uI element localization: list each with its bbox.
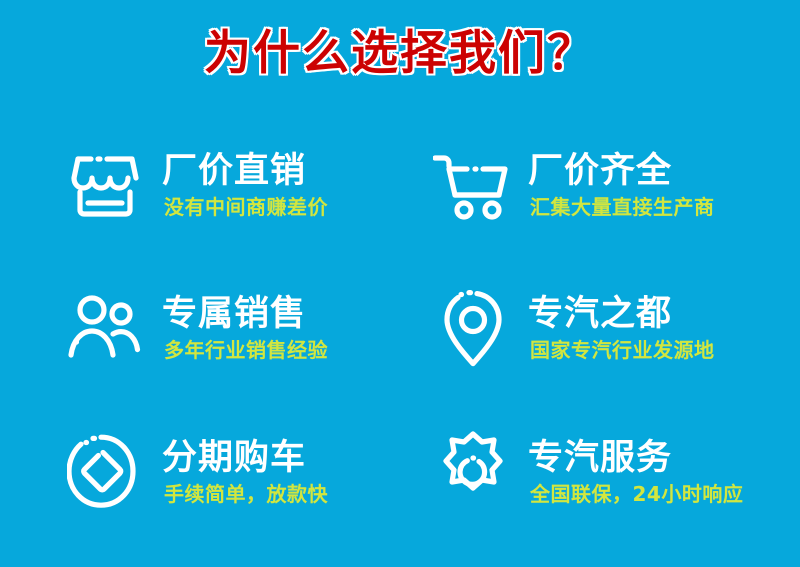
feature-text: 专汽服务 全国联保，24小时响应 [528,436,743,507]
feature-heading: 分期购车 [162,438,328,478]
feature-subtitle: 多年行业销售经验 [164,337,328,363]
feature-heading: 厂价直销 [162,151,328,191]
feature-text: 厂价齐全 汇集大量直接生产商 [528,149,715,220]
location-pin-icon [432,285,514,371]
storefront-icon [62,142,148,228]
page-title: 为什么选择我们？ [0,26,800,82]
feature-item-service[interactable]: 专汽服务 全国联保，24小时响应 [432,400,800,543]
feature-item-installment[interactable]: 分期购车 手续简单，放款快 [62,400,432,543]
feature-grid: 厂价直销 没有中间商赚差价 厂价齐全 汇集大量直接生产商 [0,113,800,543]
why-choose-us-banner: 为什么选择我们？ 厂价直销 没有中间商赚差价 [0,0,800,567]
feature-text: 专属销售 多年行业销售经验 [162,292,328,363]
feature-item-factory-direct[interactable]: 厂价直销 没有中间商赚差价 [62,113,432,256]
two-people-icon [62,285,148,371]
feature-subtitle: 全国联保，24小时响应 [530,481,743,507]
feature-heading: 专汽服务 [528,438,743,478]
feature-subtitle: 汇集大量直接生产商 [530,194,715,220]
shopping-cart-icon [432,142,514,228]
feature-heading: 厂价齐全 [528,151,715,191]
feature-item-full-range[interactable]: 厂价齐全 汇集大量直接生产商 [432,113,800,256]
feature-text: 厂价直销 没有中间商赚差价 [162,149,328,220]
feature-text: 分期购车 手续简单，放款快 [162,436,328,507]
feature-subtitle: 手续简单，放款快 [164,481,328,507]
feature-item-auto-capital[interactable]: 专汽之都 国家专汽行业发源地 [432,256,800,399]
feature-subtitle: 国家专汽行业发源地 [530,337,715,363]
feature-item-dedicated-sales[interactable]: 专属销售 多年行业销售经验 [62,256,432,399]
feature-subtitle: 没有中间商赚差价 [164,194,328,220]
gear-icon [432,428,514,514]
circle-diamond-icon [62,428,148,514]
feature-heading: 专汽之都 [528,294,715,334]
feature-heading: 专属销售 [162,294,328,334]
feature-text: 专汽之都 国家专汽行业发源地 [528,292,715,363]
